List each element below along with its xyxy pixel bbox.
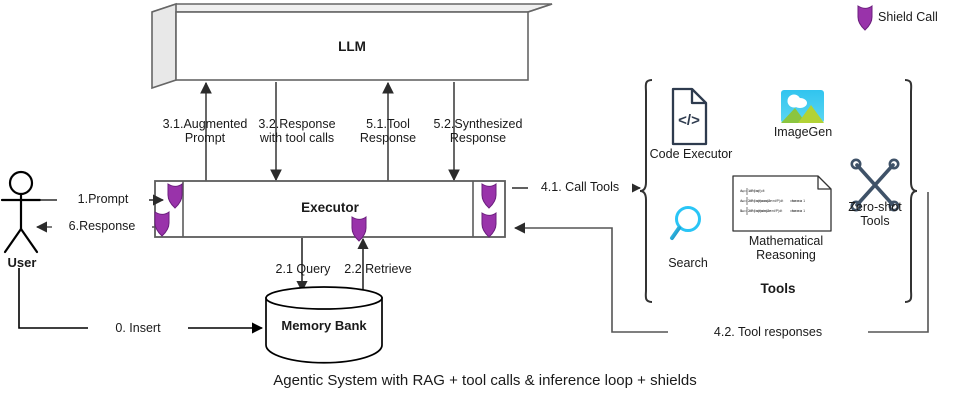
magnifier-icon [672,208,700,239]
formula-document-icon: A₀ = 1/P ∫ s(t)dt Aₙ = 2/P ∫ s(t)cos(2πn… [733,176,831,231]
svg-text:</>: </> [678,112,700,129]
svg-text:Aₙ = 2/P ∫ s(t)cos(2πnt/P)dt: Aₙ = 2/P ∫ s(t)cos(2πnt/P)dt [740,199,783,203]
tool-label-code-executor: Code Executor [648,147,734,161]
shield-icon-legend [858,6,872,30]
diagram-caption: Agentic System with RAG + tool calls & i… [0,374,970,388]
user-node [2,172,40,252]
edge-label-synthesized-response: 5.2.Synthesized Response [418,117,538,145]
edge-label-response: 6.Response [52,219,152,233]
tool-label-search: Search [652,256,724,270]
tool-label-mathematical-reasoning: Mathematical Reasoning [740,234,832,262]
edge-label-prompt: 1.Prompt [57,192,149,206]
legend-label: Shield Call [878,10,968,24]
executor-label: Executor [254,201,406,215]
user-label: User [0,256,44,270]
edge-label-tool-responses: 4.2. Tool responses [668,325,868,339]
tools-group-label: Tools [718,282,838,296]
svg-text:Bₙ = 2/P ∫ s(t)sin(2πnt/P)dt: Bₙ = 2/P ∫ s(t)sin(2πnt/P)dt [740,209,782,213]
llm-label: LLM [276,40,428,54]
svg-text:for n ≥ 1: for n ≥ 1 [792,199,805,203]
svg-text:for n ≥ 1: for n ≥ 1 [792,209,805,213]
edge-insert [19,268,262,328]
edge-label-retrieve: 2.2 Retrieve [330,262,426,276]
tool-label-imagegen: ImageGen [762,125,844,139]
code-document-icon: </> [673,89,706,144]
image-picture-icon [781,90,824,123]
edge-label-call-tools: 4.1. Call Tools [528,180,632,194]
tool-label-zero-shot-tools: Zero-shot Tools [840,200,910,228]
edge-label-insert: 0. Insert [88,321,188,335]
memory-bank-label: Memory Bank [264,319,384,333]
svg-text:A₀ = 1/P ∫ s(t)dt: A₀ = 1/P ∫ s(t)dt [740,189,764,193]
